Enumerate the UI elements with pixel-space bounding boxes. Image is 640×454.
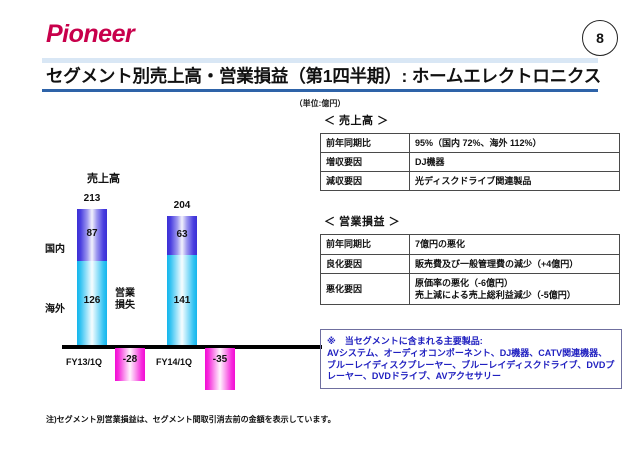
series-label-overseas: 海外 [45, 300, 65, 315]
table-row: 前年同期比 95%（国内 72%、海外 112%） [321, 134, 620, 153]
page-title: セグメント別売上高・営業損益（第1四半期）: ホームエレクトロニクス [46, 63, 602, 88]
profit-row-value-2: 原価率の悪化（-6億円） 売上減による売上総利益減少（-5億円） [410, 273, 620, 304]
sales-row-key-1: 増収要因 [321, 153, 410, 172]
profit-row-key-1: 良化要因 [321, 254, 410, 273]
profit-row-key-0: 前年同期比 [321, 235, 410, 254]
bar-loss-fy14: -35 [205, 348, 235, 390]
bar-value-domestic-fy14: 63 [167, 229, 197, 240]
table-row: 減収要因 光ディスクドライブ関連製品 [321, 172, 620, 191]
sales-row-value-1: DJ機器 [410, 153, 620, 172]
right-column: ＜ 売上高 ＞ 前年同期比 95%（国内 72%、海外 112%） 増収要因 D… [320, 112, 626, 389]
bar-loss-fy13: -28 [115, 348, 145, 381]
title-underline [42, 89, 598, 92]
spacer [320, 305, 626, 329]
x-axis-label-fy13: FY13/1Q [54, 357, 114, 367]
sales-row-key-0: 前年同期比 [321, 134, 410, 153]
segment-products-note: ※ 当セグメントに含まれる主要製品: AVシステム、オーディオコンポーネント、D… [320, 329, 622, 389]
loss-caption-line-1: 営業 [115, 288, 135, 299]
sales-operating-income-chart: 売上高 213 204 国内 海外 87 126 63 141 営業 損失 -2… [32, 160, 322, 410]
bar-fy13: 87 126 [77, 209, 107, 345]
sales-row-value-2: 光ディスクドライブ関連製品 [410, 172, 620, 191]
sales-row-value-0: 95%（国内 72%、海外 112%） [410, 134, 620, 153]
bar-value-loss-fy13: -28 [115, 354, 145, 365]
profit-row-value-0: 7億円の悪化 [410, 235, 620, 254]
loss-caption: 営業 損失 [115, 288, 135, 311]
table-row: 良化要因 販売費及び一般管理費の減少（+4億円） [321, 254, 620, 273]
page-number-badge: 8 [582, 20, 618, 56]
sales-table: 前年同期比 95%（国内 72%、海外 112%） 増収要因 DJ機器 減収要因… [320, 133, 620, 191]
total-label-fy13: 213 [62, 193, 122, 204]
profit-worse-line-2: 売上減による売上総利益減少（-5億円） [415, 289, 614, 301]
note-body: AVシステム、オーディオコンポーネント、DJ機器、CATV関連機器、ブルーレイデ… [327, 348, 615, 383]
profit-worse-line-1: 原価率の悪化（-6億円） [415, 277, 614, 289]
table-row: 前年同期比 7億円の悪化 [321, 235, 620, 254]
series-label-domestic: 国内 [45, 240, 65, 255]
table-row: 悪化要因 原価率の悪化（-6億円） 売上減による売上総利益減少（-5億円） [321, 273, 620, 304]
bar-fy14: 63 141 [167, 216, 197, 345]
x-axis-label-fy14: FY14/1Q [144, 357, 204, 367]
sales-row-key-2: 減収要因 [321, 172, 410, 191]
profit-table: 前年同期比 7億円の悪化 良化要因 販売費及び一般管理費の減少（+4億円） 悪化… [320, 234, 620, 305]
loss-caption-line-2: 損失 [115, 300, 135, 311]
footer-note: 注)セグメント別営業損益は、セグメント間取引消去前の金額を表示しています。 [46, 414, 336, 425]
chart-baseline [62, 345, 322, 349]
spacer [320, 191, 626, 213]
table-row: 増収要因 DJ機器 [321, 153, 620, 172]
bar-value-overseas-fy14: 141 [167, 295, 197, 306]
pioneer-logo: Pioneer [46, 22, 134, 47]
note-title: ※ 当セグメントに含まれる主要製品: [327, 334, 615, 347]
bar-value-overseas-fy13: 126 [77, 295, 107, 306]
sales-table-heading: ＜ 売上高 ＞ [324, 112, 626, 128]
total-label-fy14: 204 [152, 200, 212, 211]
bar-value-domestic-fy13: 87 [77, 228, 107, 239]
profit-row-key-2: 悪化要因 [321, 273, 410, 304]
profit-table-heading: ＜ 営業損益 ＞ [324, 213, 626, 229]
chart-title: 売上高 [87, 170, 120, 186]
profit-row-value-1: 販売費及び一般管理費の減少（+4億円） [410, 254, 620, 273]
bar-value-loss-fy14: -35 [205, 354, 235, 365]
unit-label: （単位:億円） [0, 98, 640, 109]
